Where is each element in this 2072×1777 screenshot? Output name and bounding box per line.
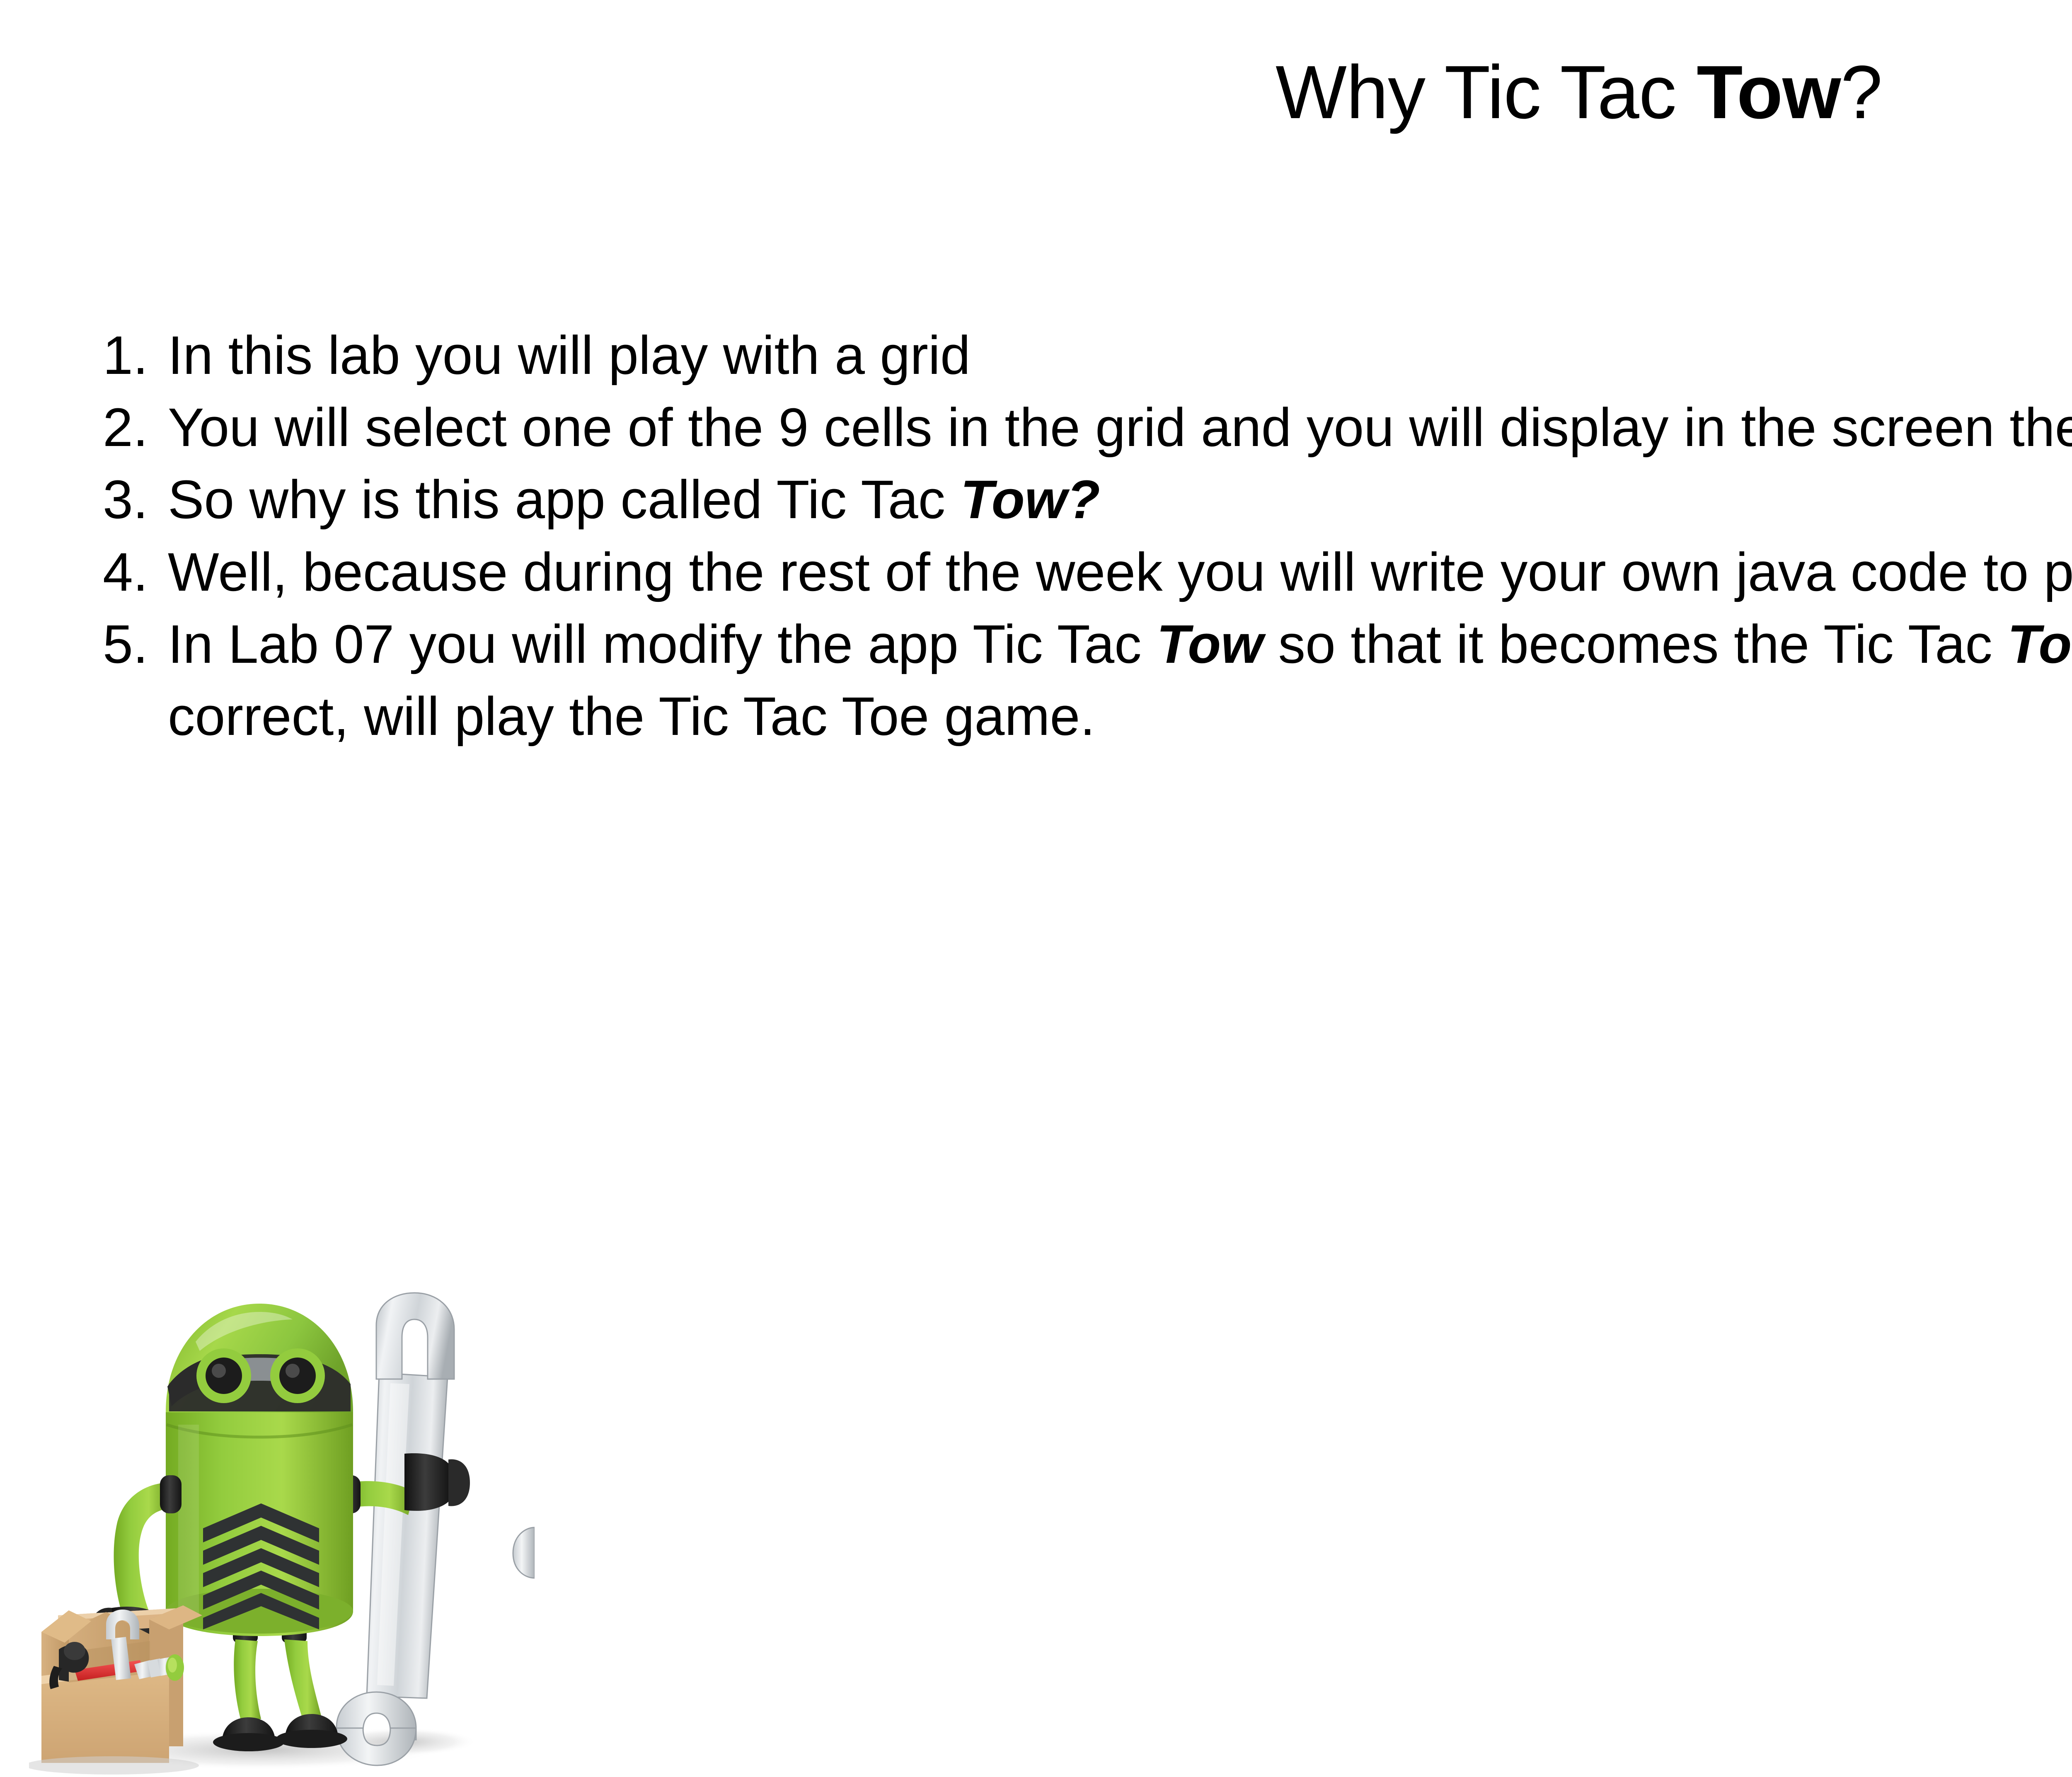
page-title-emphasis: Tow: [1697, 50, 1840, 134]
list-item: 1. In this lab you will play with a grid: [79, 319, 2072, 391]
text-run: You will select one of the 9 cells in th…: [168, 397, 2072, 458]
text-run: In Lab 07 you will modify the app Tic Ta…: [168, 613, 1157, 674]
list-item-number: 3.: [79, 463, 168, 536]
screwdriver-icon: [166, 1654, 184, 1681]
toolbox-shadow: [29, 1756, 199, 1775]
wrench-partial-icon: [513, 1527, 535, 1578]
list-item: 2. You will select one of the 9 cells in…: [79, 391, 2072, 463]
robot-body: [166, 1412, 353, 1636]
text-run: so that it becomes the Tic Tac: [1263, 613, 2007, 674]
list-item-text: In this lab you will play with a grid: [168, 319, 2072, 391]
list-item-text: You will select one of the 9 cells in th…: [168, 391, 2072, 463]
numbered-list: 1. In this lab you will play with a grid…: [79, 319, 2072, 752]
text-run-emphasis: Tow: [1157, 613, 1263, 674]
android-robot-illustration: [29, 1288, 535, 1777]
list-item: 5. In Lab 07 you will modify the app Tic…: [79, 608, 2072, 752]
list-item-number: 5.: [79, 608, 168, 680]
list-item-text: In Lab 07 you will modify the app Tic Ta…: [168, 608, 2072, 752]
wrench-large-icon: [336, 1293, 454, 1765]
text-run: In this lab you will play with a grid: [168, 325, 971, 385]
text-run: So why is this app called Tic Tac: [168, 469, 961, 530]
toolbox: [41, 1605, 202, 1763]
list-item-number: 4.: [79, 536, 168, 608]
text-run: Well, because during the rest of the wee…: [168, 541, 2072, 602]
list-item-text: So why is this app called Tic Tac Tow?: [168, 463, 2072, 536]
page-title-prefix: Why Tic Tac: [1276, 50, 1697, 134]
list-item: 3. So why is this app called Tic Tac Tow…: [79, 463, 2072, 536]
page-title: Why Tic Tac Tow?: [0, 49, 2072, 136]
page-title-suffix: ?: [1841, 50, 1882, 134]
list-item: 4. Well, because during the rest of the …: [79, 536, 2072, 608]
text-run-emphasis: Tow?: [961, 469, 1100, 530]
list-item-number: 2.: [79, 391, 168, 463]
list-item-number: 1.: [79, 319, 168, 391]
list-item-text: Well, because during the rest of the wee…: [168, 536, 2072, 608]
robot-head: [166, 1304, 353, 1412]
robot-arm-right: [339, 1453, 470, 1515]
text-run-emphasis: Toe: [2007, 613, 2072, 674]
